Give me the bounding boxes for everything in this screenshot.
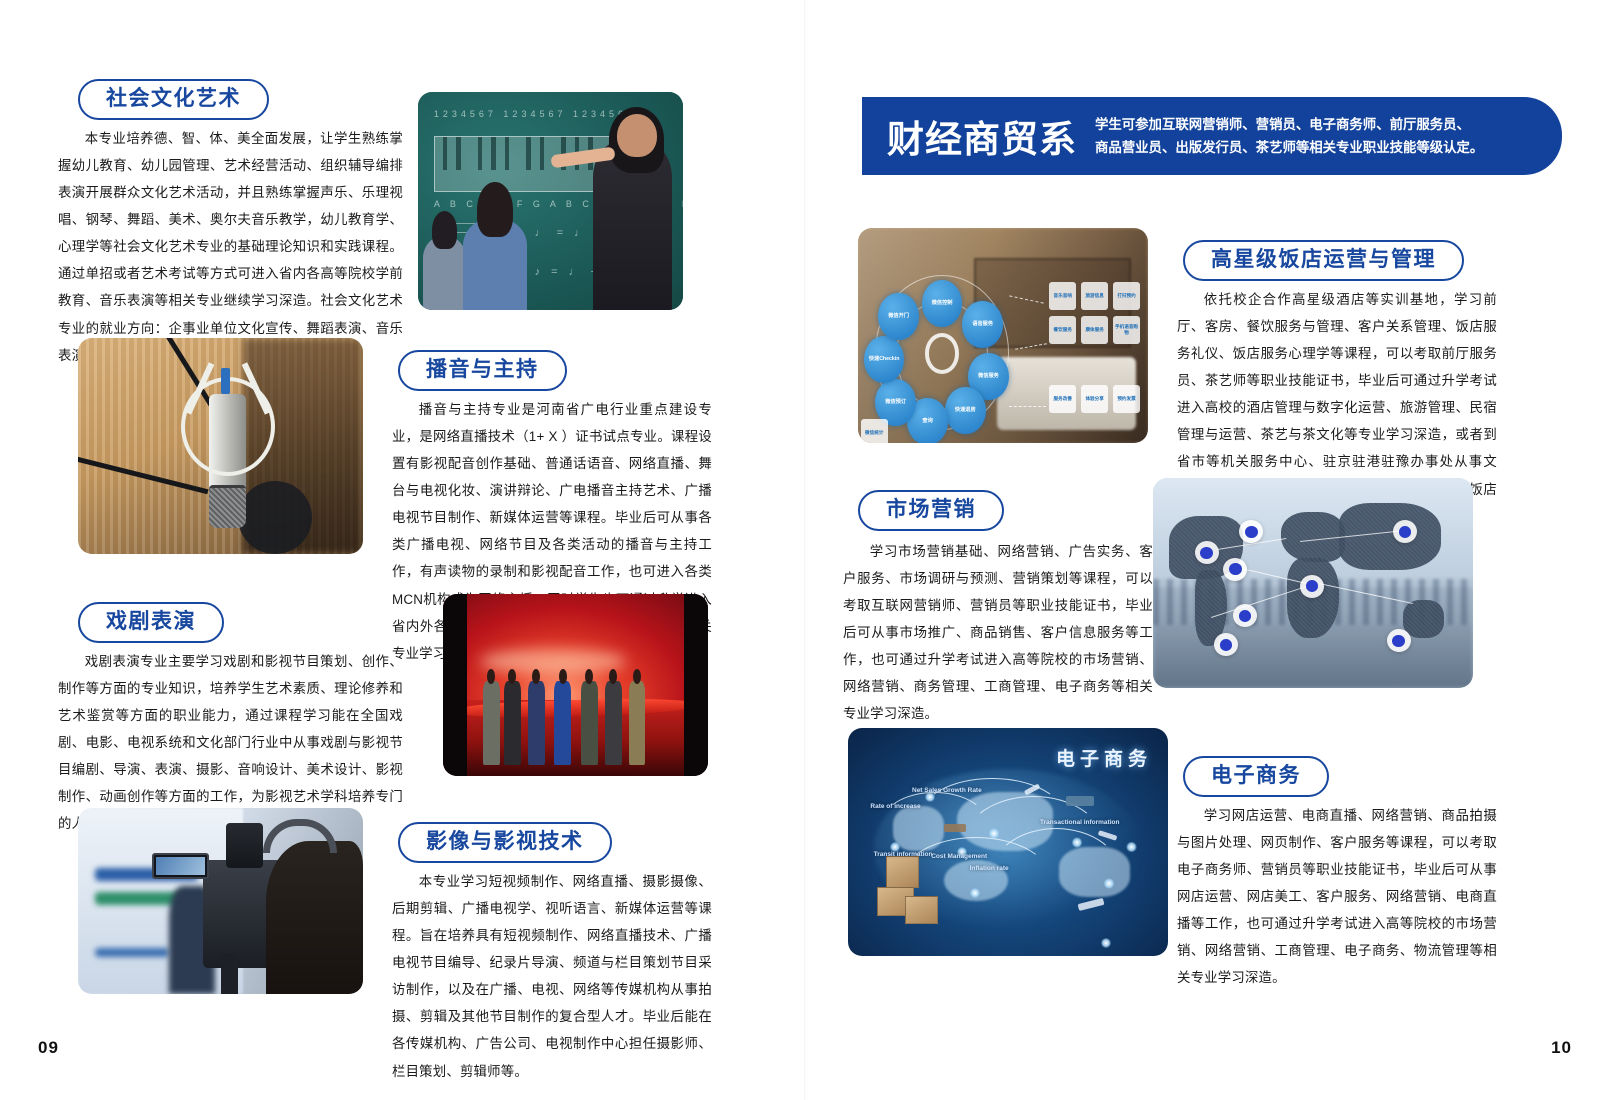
photo-global-network-map — [1153, 478, 1473, 688]
photo-smart-hotel-inner: 入住 微信控制 语音服务 微信服务 快速退房 查询 微信预订 快速Checkin… — [858, 228, 1148, 443]
right-page: 财经商贸系 学生可参加互联网营销师、营销员、电子商务师、前厅服务员、 商品营业员… — [805, 0, 1610, 1100]
photo-ecommerce-network-inner: Rate of increase Transactional informati… — [848, 728, 1168, 956]
teacher-head — [617, 114, 657, 158]
brochure-spread: 社会文化艺术 本专业培养德、智、体、美全面发展，让学生熟练掌握幼儿教育、幼儿园管… — [0, 0, 1610, 1100]
section-title-imaging-film-tv: 影像与影视技术 — [426, 831, 584, 852]
department-name: 财经商贸系 — [887, 109, 1077, 163]
hotel-tile-service-improve: 服务改善 — [1049, 385, 1076, 413]
hotel-tile-share: 体验分享 — [1081, 385, 1108, 413]
trade-node-6 — [1126, 842, 1136, 852]
page-gutter — [804, 0, 806, 1100]
photo-stage-performance — [443, 594, 708, 776]
photo-global-network-map-inner — [1153, 478, 1473, 688]
section-heading-e-commerce: 电子商务 — [1183, 756, 1329, 797]
landmass-australia — [1403, 600, 1445, 638]
photo-camera-operator — [78, 808, 363, 994]
pop-filter — [238, 481, 312, 554]
department-note-line-1: 学生可参加互联网营销师、营销员、电子商务师、前厅服务员、 — [1095, 113, 1483, 136]
section-title-e-commerce: 电子商务 — [1211, 765, 1301, 786]
photo-smart-hotel-infographic: 入住 微信控制 语音服务 微信服务 快速退房 查询 微信预订 快速Checkin… — [858, 228, 1148, 443]
map-pin-chart-icon — [1195, 541, 1219, 564]
map-pin-oceania — [1387, 629, 1411, 652]
ec-label-cost-management: Cost Management — [931, 853, 987, 860]
ec-label-transit-information: Transit information — [874, 851, 933, 858]
photo-stage-performance-inner — [443, 594, 708, 776]
map-pin-analytics-icon — [1223, 558, 1247, 581]
performer-5 — [581, 681, 598, 765]
hotel-tile-dining: 餐饮服务 — [1049, 316, 1076, 344]
pill-social-culture-art: 社会文化艺术 — [78, 79, 269, 120]
hotel-connector-3 — [1009, 406, 1047, 407]
backdrop-cloud — [480, 649, 626, 674]
pill-imaging-film-tv: 影像与影视技术 — [398, 822, 612, 863]
pill-e-commerce: 电子商务 — [1183, 756, 1329, 797]
section-title-broadcasting-hosting: 播音与主持 — [426, 359, 539, 380]
microphone-grille — [209, 485, 246, 528]
photo-studio-microphone — [78, 338, 363, 554]
page-number-left: 09 — [38, 1038, 59, 1058]
photo-music-classroom-inner: 1234567 1234567 1234567 A B C D E F G A … — [418, 92, 683, 310]
hotel-tile-voice-shopping: 手机语音购物 — [1113, 316, 1140, 344]
camera-tripod — [221, 953, 238, 994]
ec-label-rate-of-increase: Rate of increase — [870, 803, 920, 810]
page-number-right: 10 — [1551, 1038, 1572, 1058]
cardboard-boxes — [877, 856, 941, 934]
section-heading-imaging-film-tv: 影像与影视技术 — [398, 822, 612, 863]
ec-label-net-sales-growth: Net Sales Growth Rate — [912, 787, 982, 794]
student-figure-1 — [423, 236, 465, 310]
landmass-asia — [1339, 503, 1441, 570]
student-figure-2 — [463, 218, 527, 310]
hotel-node-fast-checkout: 快速退房 — [945, 387, 986, 434]
performer-1 — [483, 681, 500, 765]
section-heading-broadcasting-hosting: 播音与主持 — [398, 350, 567, 391]
department-banner: 财经商贸系 学生可参加互联网营销师、营销员、电子商务师、前厅服务员、 商品营业员… — [862, 97, 1562, 175]
cargo-ship-icon-1 — [1066, 796, 1095, 805]
pill-marketing: 市场营销 — [858, 490, 1004, 531]
hotel-node-wechat-door: 微信开门 — [878, 293, 919, 340]
hotel-node-wechat-control: 微信控制 — [922, 280, 963, 327]
section-body-imaging-film-tv: 本专业学习短视频制作、网络直播、摄影摄像、后期剪辑、广播电视学、视听语言、新媒体… — [392, 868, 712, 1085]
operator-headphones — [263, 819, 337, 852]
hotel-tile-invoice: 预约发票 — [1113, 385, 1140, 413]
section-title-drama-performance: 戏剧表演 — [106, 611, 196, 632]
performer-7 — [629, 681, 646, 765]
cargo-ship-icon-2 — [944, 824, 966, 832]
performer-6 — [605, 681, 622, 765]
hotel-node-voice-service: 语音服务 — [962, 301, 1003, 348]
performer-2 — [504, 681, 521, 765]
hotel-node-fast-checkin: 快速Checkin — [864, 336, 905, 383]
section-title-social-culture-art: 社会文化艺术 — [106, 88, 241, 109]
left-page: 社会文化艺术 本专业培养德、智、体、美全面发展，让学生熟练掌握幼儿教育、幼儿园管… — [0, 0, 805, 1100]
chalk-notes-top: 1234567 1234567 1234567 — [434, 109, 636, 119]
ecommerce-graphic-title: 电子商务 — [1056, 744, 1152, 771]
trade-node-9 — [1101, 938, 1111, 948]
ec-label-inflation-rate: Inflation rate — [970, 865, 1009, 872]
mic-cable-connector — [221, 368, 231, 394]
section-heading-hotel-operation-management: 高星级饭店运营与管理 — [1183, 240, 1464, 281]
photo-studio-microphone-inner — [78, 338, 363, 554]
photo-music-classroom: 1234567 1234567 1234567 A B C D E F G A … — [418, 92, 683, 310]
hotel-tile-wellness: 康体服务 — [1081, 316, 1108, 344]
department-note-line-2: 商品营业员、出版发行员、茶艺师等相关专业职业技能等级认定。 — [1095, 136, 1483, 159]
section-heading-marketing: 市场营销 — [858, 490, 1004, 531]
stage-wing-right — [684, 594, 708, 776]
hotel-tile-statistics: 微信统计 — [861, 419, 888, 443]
map-pin-north — [1239, 520, 1263, 543]
backdrop-text-3 — [95, 948, 169, 957]
pill-hotel-operation-management: 高星级饭店运营与管理 — [1183, 240, 1464, 281]
stage-wing-left — [443, 594, 467, 776]
department-note: 学生可参加互联网营销师、营销员、电子商务师、前厅服务员、 商品营业员、出版发行员… — [1077, 113, 1483, 159]
section-heading-social-culture-art: 社会文化艺术 — [78, 79, 269, 120]
photo-camera-operator-inner — [78, 808, 363, 994]
photo-ecommerce-network: Rate of increase Transactional informati… — [848, 728, 1168, 956]
pill-drama-performance: 戏剧表演 — [78, 602, 224, 643]
section-title-marketing: 市场营销 — [886, 499, 976, 520]
hotel-tile-travel-info: 旅游信息 — [1081, 282, 1108, 310]
landmass-africa — [1287, 558, 1338, 638]
performer-4 — [554, 681, 571, 765]
camera-monitor — [152, 853, 209, 879]
section-body-e-commerce: 学习网店运营、电商直播、网络营销、商品拍摄与图片处理、网页制作、客户服务等课程，… — [1177, 802, 1497, 992]
ec-label-transactional-information: Transactional information — [1040, 819, 1119, 826]
section-title-hotel-operation-management: 高星级饭店运营与管理 — [1211, 249, 1436, 270]
hotel-tile-cleaning: 打扫预约 — [1113, 282, 1140, 310]
trade-node-7 — [970, 888, 980, 898]
section-heading-drama-performance: 戏剧表演 — [78, 602, 224, 643]
hotel-tile-music: 音乐音响 — [1049, 282, 1076, 310]
map-pin-document-icon — [1233, 604, 1257, 627]
pill-broadcasting-hosting: 播音与主持 — [398, 350, 567, 391]
map-pin-asia — [1393, 520, 1417, 543]
operator-head — [266, 841, 363, 994]
performer-3 — [528, 681, 545, 765]
map-pin-africa — [1300, 575, 1324, 598]
camera-lens — [226, 823, 263, 868]
section-body-marketing: 学习市场营销基础、网络营销、广告实务、客户服务、市场调研与预测、营销策划等课程，… — [843, 538, 1153, 728]
trade-node-3 — [989, 828, 999, 838]
section-body-social-culture-art: 本专业培养德、智、体、美全面发展，让学生熟练掌握幼儿教育、幼儿园管理、艺术经营活… — [58, 125, 403, 369]
